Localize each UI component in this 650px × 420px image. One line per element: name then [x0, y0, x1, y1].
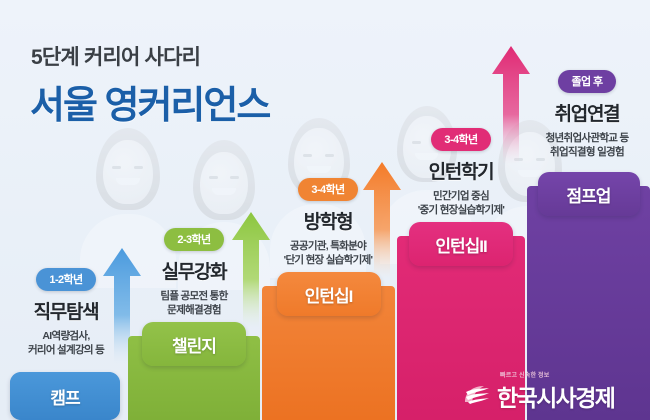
page-kicker: 5단계 커리어 사다리	[31, 41, 200, 71]
step-block-3[interactable]: 인턴십I	[277, 272, 381, 316]
step-desc-1-line1: AI역량검사,	[10, 329, 122, 343]
step-desc-1-line2: 커리어 설계강의 등	[10, 343, 122, 357]
step-desc-5-line1: 청년취업사관학교 등	[524, 131, 650, 145]
step-title-2: 실무강화	[130, 257, 258, 284]
step-badge-5: 졸업 후	[558, 70, 615, 93]
step-info-3: 3-4학년 방학형 공공기관, 특화분야 '단기 현장 실습학기제'	[258, 178, 398, 268]
step-block-label-1: 캠프	[50, 384, 79, 409]
step-block-4[interactable]: 인턴십II	[409, 222, 513, 266]
step-info-4: 3-4학년 인턴학기 민간기업 중심 '중기 현장실습학기제'	[390, 128, 532, 218]
step-title-5: 취업연결	[524, 99, 650, 126]
logo-name: 한국시사경제	[497, 379, 614, 413]
logo[interactable]: 빠르고 신속한 정보 한국시사경제	[462, 379, 614, 413]
step-info-1: 1-2학년 직무탐색 AI역량검사, 커리어 설계강의 등	[10, 268, 122, 358]
step-block-label-4: 인턴십II	[435, 232, 486, 257]
step-block-1[interactable]: 캠프	[10, 372, 120, 420]
step-desc-4-line2: '중기 현장실습학기제'	[390, 203, 532, 217]
infographic-canvas: 5단계 커리어 사다리 서울 영커리언스 캠프	[0, 0, 650, 420]
step-desc-5-line2: 취업직결형 일경험	[524, 145, 650, 159]
step-info-2: 2-3학년 실무강화 팀플 공모전 통한 문제해결경험	[130, 228, 258, 318]
step-desc-3-line2: '단기 현장 실습학기제'	[258, 253, 398, 267]
step-block-5[interactable]: 점프업	[538, 172, 640, 216]
wave-logo-icon	[462, 383, 492, 409]
step-block-label-3: 인턴십I	[305, 282, 353, 307]
step-column-2[interactable]: 챌린지	[128, 336, 260, 420]
step-column-1[interactable]: 캠프	[10, 372, 120, 420]
step-column-3[interactable]: 인턴십I	[262, 286, 395, 420]
step-block-label-5: 점프업	[567, 182, 611, 207]
step-desc-3-line1: 공공기관, 특화분야	[258, 239, 398, 253]
step-info-5: 졸업 후 취업연결 청년취업사관학교 등 취업직결형 일경험	[524, 70, 650, 160]
logo-tagline: 빠르고 신속한 정보	[500, 370, 550, 379]
step-desc-2-line2: 문제해결경험	[130, 303, 258, 317]
step-block-2[interactable]: 챌린지	[142, 322, 246, 366]
step-badge-2: 2-3학년	[164, 228, 223, 251]
step-desc-2-line1: 팀플 공모전 통한	[130, 289, 258, 303]
step-badge-1: 1-2학년	[36, 268, 95, 291]
step-title-4: 인턴학기	[390, 157, 532, 184]
step-title-1: 직무탐색	[10, 297, 122, 324]
step-badge-4: 3-4학년	[431, 128, 490, 151]
step-desc-4-line1: 민간기업 중심	[390, 189, 532, 203]
step-title-3: 방학형	[258, 207, 398, 234]
step-badge-3: 3-4학년	[298, 178, 357, 201]
step-block-label-2: 챌린지	[172, 332, 216, 357]
page-title: 서울 영커리언스	[30, 74, 269, 129]
